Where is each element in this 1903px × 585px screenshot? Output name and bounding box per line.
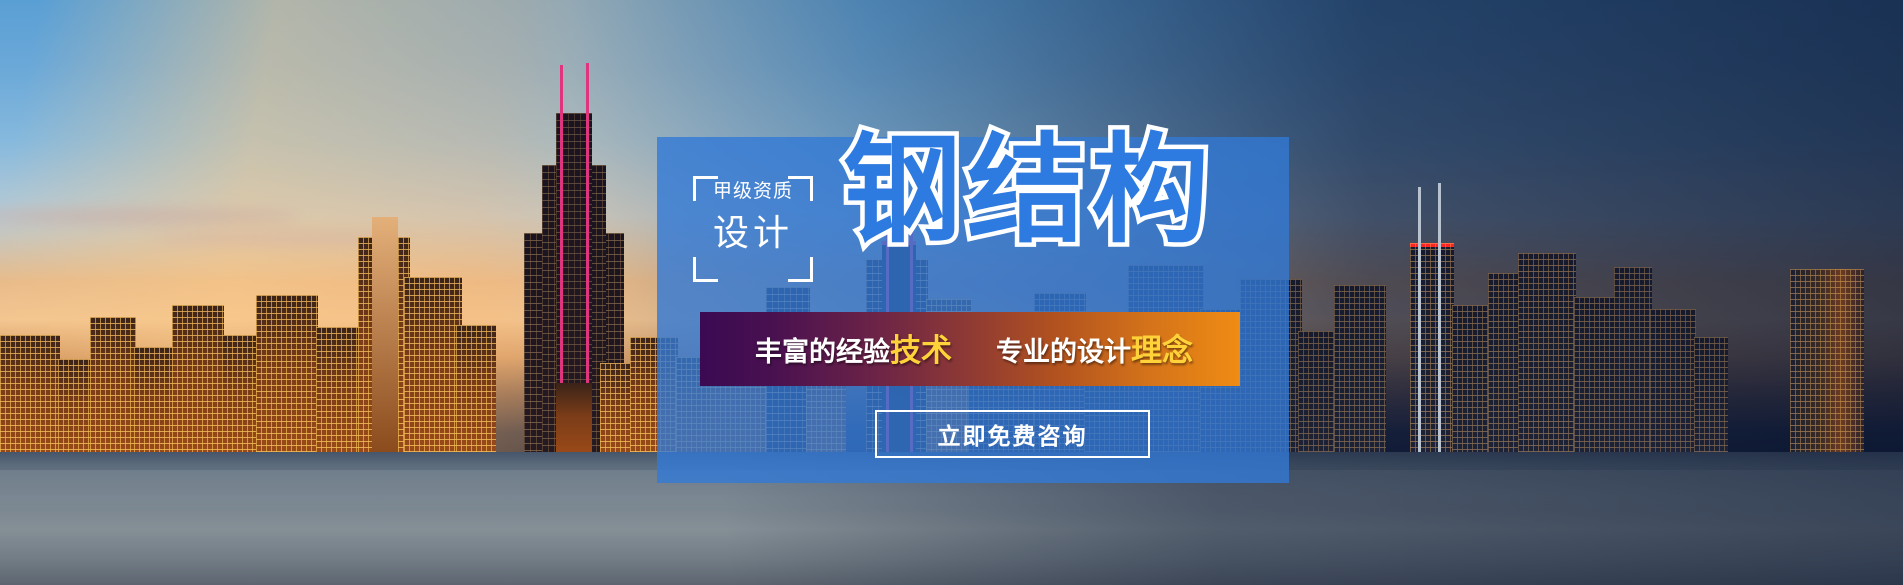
bracket-corner-icon — [788, 257, 813, 282]
qualification-badge: 甲级资质 设计 — [693, 176, 813, 282]
feature-bar: 丰富的经验技术 专业的设计理念 — [700, 312, 1240, 386]
badge-service-text: 设计 — [693, 216, 813, 252]
page-title: 钢结构 — [843, 131, 1215, 249]
free-consultation-button[interactable]: 立即免费咨询 — [875, 410, 1150, 458]
feature-item-highlight: 理念 — [1131, 336, 1193, 367]
feature-item: 专业的设计理念 — [996, 336, 1193, 367]
feature-item-highlight: 技术 — [890, 336, 952, 367]
feature-item: 丰富的经验技术 — [755, 336, 952, 367]
feature-item-text: 专业的设计 — [996, 339, 1131, 366]
badge-qualification-text: 甲级资质 — [693, 182, 813, 201]
bracket-corner-icon — [693, 257, 718, 282]
hero-banner: 甲级资质 设计 钢结构 丰富的经验技术 专业的设计理念 立即免费咨询 — [0, 0, 1903, 585]
feature-item-text: 丰富的经验 — [755, 339, 890, 366]
